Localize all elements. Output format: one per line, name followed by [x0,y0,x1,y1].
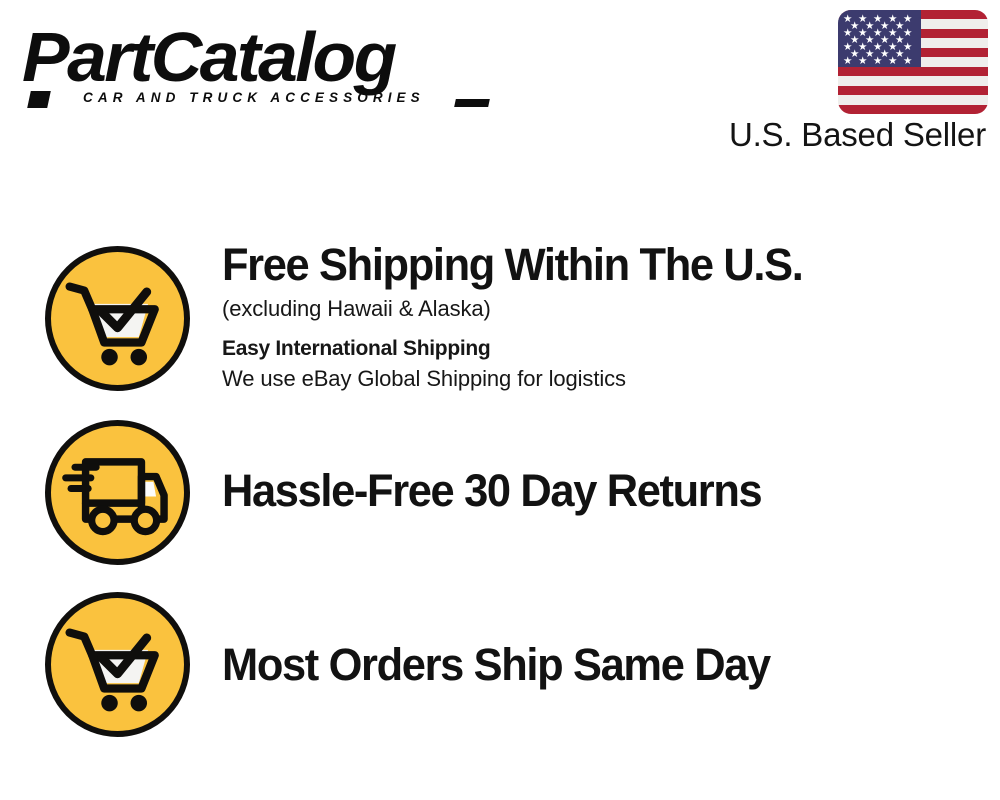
brand-tagline-row: CAR AND TRUCK ACCESSORIES [25,90,495,112]
tagline-slab-left-icon [27,91,51,108]
brand-tagline: CAR AND TRUCK ACCESSORIES [83,90,425,105]
feature-subtitle: We use eBay Global Shipping for logistic… [222,364,982,394]
feature-title: Hassle-Free 30 Day Returns [222,466,955,516]
feature-text-group: Free Shipping Within The U.S. (excluding… [222,240,982,394]
tagline-slab-right-icon [454,99,490,107]
feature-text-group: Hassle-Free 30 Day Returns [222,466,982,516]
feature-title: Free Shipping Within The U.S. [222,240,955,290]
feature-row: Hassle-Free 30 Day Returns [0,420,1000,568]
feature-subtitle-strong: Easy International Shipping [222,334,982,364]
feature-row: Most Orders Ship Same Day [0,592,1000,742]
shopping-cart-check-icon [45,246,190,391]
brand-wordmark: PartCatalog [22,22,501,92]
page-header: PartCatalog CAR AND TRUCK ACCESSORIES ★ … [0,0,1000,180]
feature-subtitle: (excluding Hawaii & Alaska) [222,294,982,324]
feature-text-group: Most Orders Ship Same Day [222,640,982,690]
shopping-cart-check-icon [45,592,190,737]
us-flag-icon: ★ ★ ★ ★ ★ ★ ★ ★ ★ ★ ★ ★ ★ ★ ★ ★ ★ ★ ★ ★ … [838,10,988,114]
brand-logo[interactable]: PartCatalog CAR AND TRUCK ACCESSORIES [22,22,492,114]
flag-canton: ★ ★ ★ ★ ★ ★ ★ ★ ★ ★ ★ ★ ★ ★ ★ ★ ★ ★ ★ ★ … [838,10,921,67]
delivery-truck-icon [45,420,190,565]
us-based-seller-label: U.S. Based Seller [729,117,986,153]
feature-row: Free Shipping Within The U.S. (excluding… [0,246,1000,398]
feature-title: Most Orders Ship Same Day [222,640,955,690]
